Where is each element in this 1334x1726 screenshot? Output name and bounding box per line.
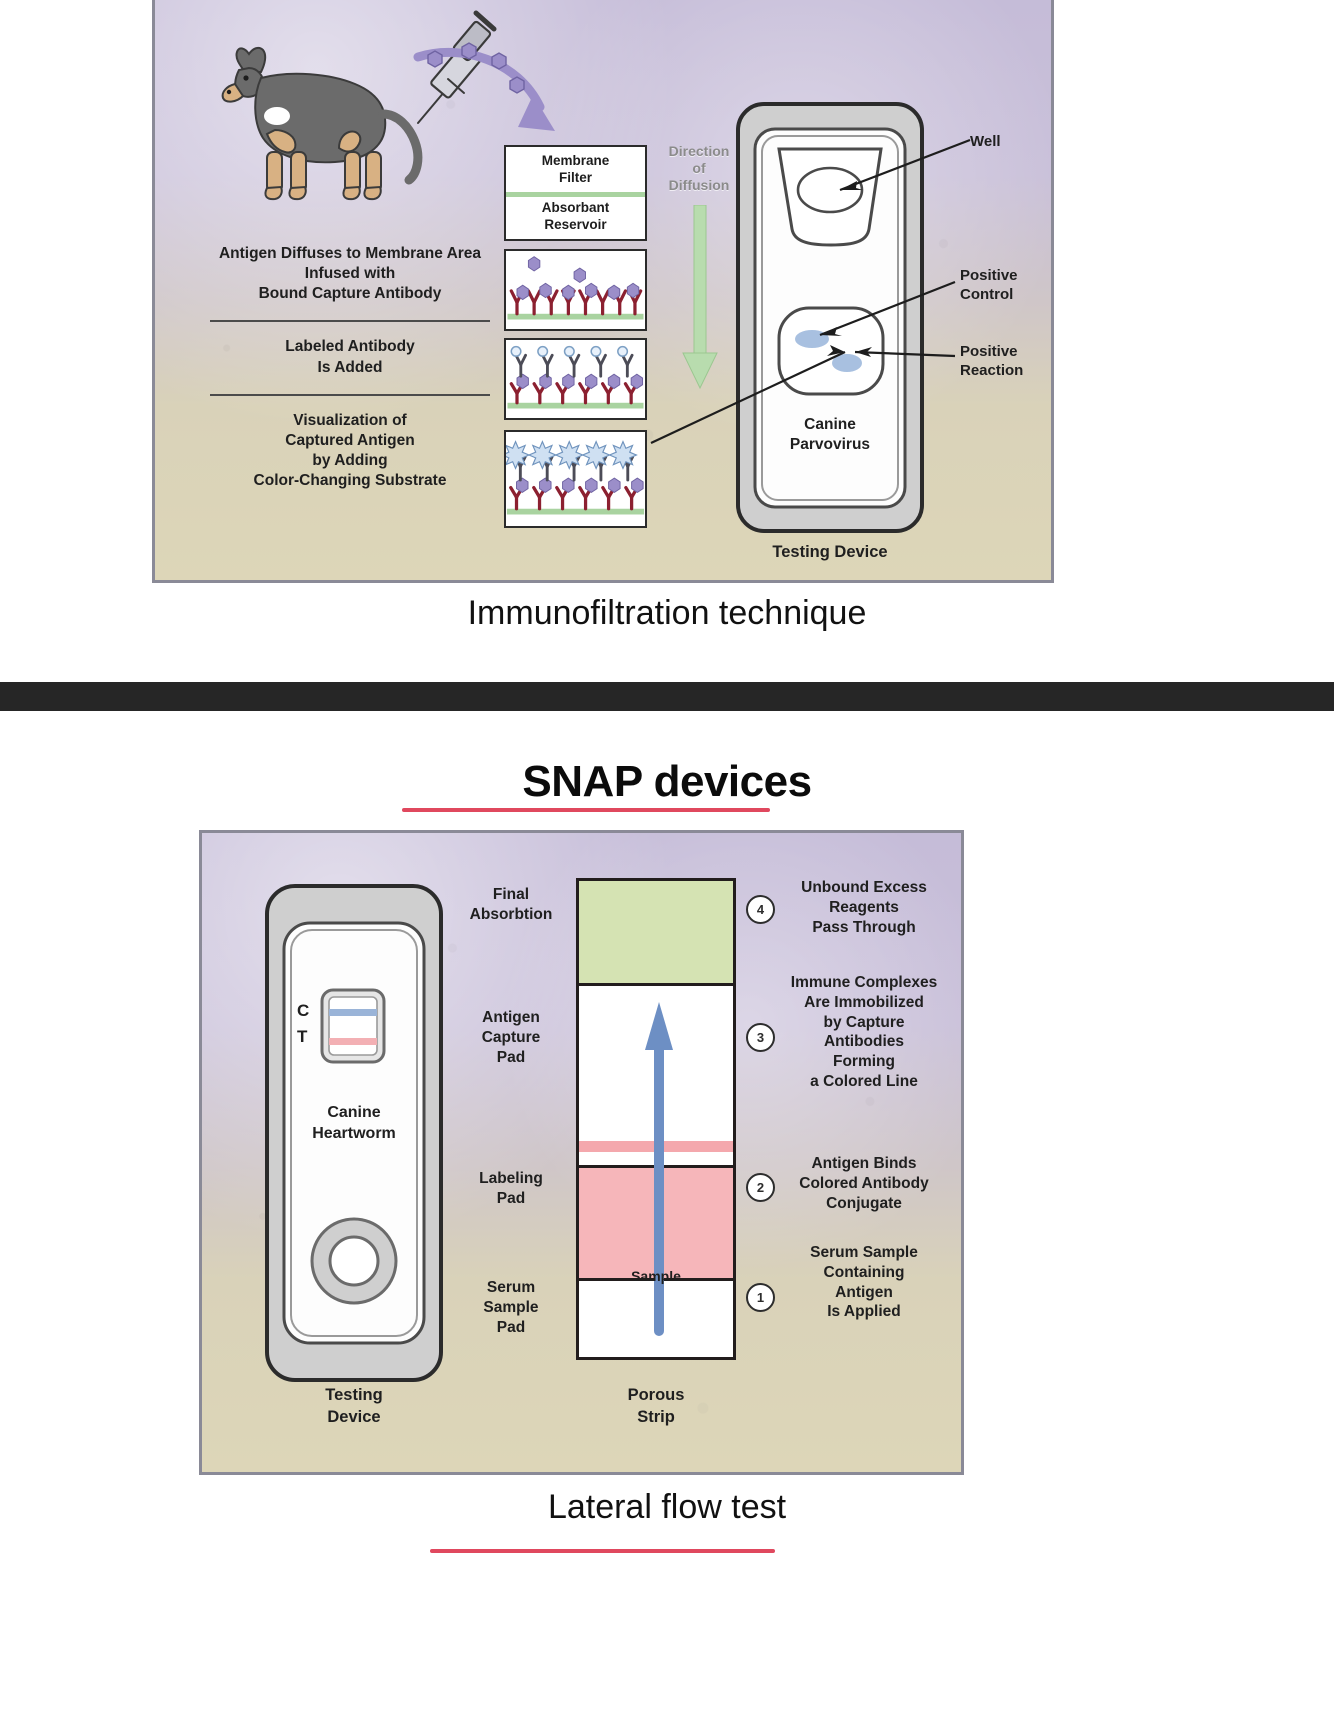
membrane-green-line bbox=[506, 192, 645, 197]
callout-positive-control: PositiveControl bbox=[960, 267, 1018, 305]
heartworm-test-name: CanineHeartworm bbox=[284, 1103, 424, 1145]
diffusion-arc-arrow bbox=[400, 35, 600, 150]
parvovirus-testing-device bbox=[735, 101, 925, 534]
membrane-stack-label-box: MembraneFilter AbsorbantReservoir bbox=[504, 145, 647, 241]
process-steps-list: Antigen Diffuses to Membrane AreaInfused… bbox=[190, 244, 510, 491]
annotation-number-2: 2 bbox=[746, 1173, 775, 1202]
color-substrate-illustration bbox=[506, 432, 645, 526]
lateral-flow-caption: Lateral flow test bbox=[0, 1488, 1334, 1527]
snap-devices-title: SNAP devices bbox=[0, 757, 1334, 807]
control-letter: C bbox=[297, 998, 309, 1024]
annotation-text-2: Antigen BindsColored AntibodyConjugate bbox=[774, 1154, 954, 1213]
lateral-flow-caption-underline bbox=[430, 1549, 775, 1553]
immunofiltration-caption: Immunofiltration technique bbox=[0, 594, 1334, 633]
test-letter: T bbox=[297, 1024, 309, 1050]
membrane-filter-label: MembraneFilter bbox=[506, 153, 645, 187]
annotation-number-4: 4 bbox=[746, 895, 775, 924]
section-divider bbox=[0, 682, 1334, 711]
stack-color-substrate bbox=[504, 430, 647, 528]
strip-segment-final-absorbtion bbox=[579, 881, 733, 986]
annotation-text-3: Immune ComplexesAre Immobilizedby Captur… bbox=[774, 973, 954, 1092]
annotation-text-4: Unbound ExcessReagentsPass Through bbox=[774, 878, 954, 937]
antigen-capture-illustration bbox=[506, 251, 645, 329]
stack-labeled-antibody bbox=[504, 338, 647, 420]
porous-strip bbox=[576, 878, 736, 1360]
control-test-letters: C T bbox=[297, 998, 309, 1051]
step-divider-1 bbox=[210, 320, 490, 322]
snap-title-underline bbox=[402, 808, 770, 812]
annotation-number-1: 1 bbox=[746, 1283, 775, 1312]
diffusion-arrow-icon bbox=[680, 205, 720, 390]
callout-positive-reaction: PositiveReaction bbox=[960, 343, 1023, 381]
step-3-text: Visualization ofCaptured Antigenby Addin… bbox=[190, 411, 510, 492]
callout-well: Well bbox=[970, 133, 1001, 152]
step-1-text: Antigen Diffuses to Membrane AreaInfused… bbox=[190, 244, 510, 304]
step-divider-2 bbox=[210, 394, 490, 396]
stack-antigen-capture bbox=[504, 249, 647, 331]
annotation-text-1: Serum SampleContainingAntigenIs Applied bbox=[774, 1243, 954, 1322]
lateral-flow-panel: C T CanineHeartworm TestingDevice Sample… bbox=[199, 830, 964, 1475]
annotation-number-3: 3 bbox=[746, 1023, 775, 1052]
absorbant-reservoir-label: AbsorbantReservoir bbox=[506, 200, 645, 234]
strip-label-serum-sample-pad: SerumSamplePad bbox=[446, 1278, 576, 1337]
testing-device-caption: Testing Device bbox=[735, 543, 925, 562]
testing-device-caption-2: TestingDevice bbox=[264, 1385, 444, 1429]
strip-label-labeling-pad: LabelingPad bbox=[446, 1169, 576, 1209]
sample-label: Sample bbox=[576, 1268, 736, 1284]
step-2-text: Labeled AntibodyIs Added bbox=[190, 337, 510, 377]
porous-strip-caption: PorousStrip bbox=[576, 1385, 736, 1429]
direction-of-diffusion-label: DirectionofDiffusion bbox=[650, 143, 748, 194]
strip-label-final-absorbtion: FinalAbsorbtion bbox=[446, 885, 576, 925]
strip-label-antigen-capture-pad: AntigenCapturePad bbox=[446, 1008, 576, 1067]
labeled-antibody-illustration bbox=[506, 340, 645, 418]
immunofiltration-panel: MembraneFilter AbsorbantReservoir bbox=[152, 0, 1054, 583]
parvovirus-test-name: CanineParvovirus bbox=[755, 415, 905, 455]
